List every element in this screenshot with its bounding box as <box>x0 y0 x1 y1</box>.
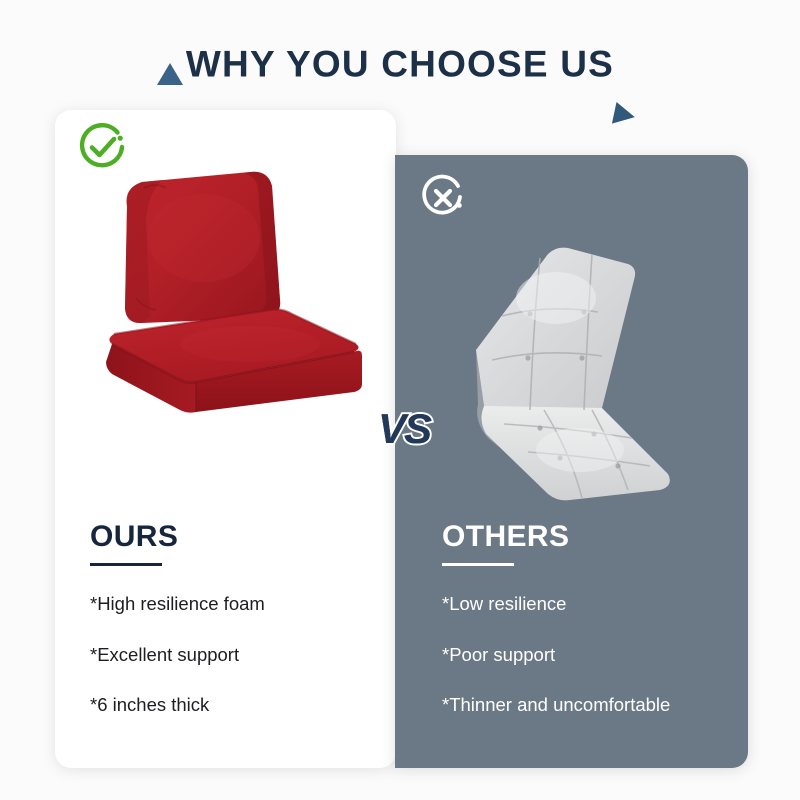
ours-bullet-2: *6 inches thick <box>90 696 209 715</box>
others-bullet-0: *Low resilience <box>442 595 566 614</box>
title-bar: WHY YOU CHOOSE US <box>0 30 800 100</box>
page-title: WHY YOU CHOOSE US <box>0 46 800 83</box>
triangle-right-icon <box>612 102 637 128</box>
ours-product-image <box>100 158 372 418</box>
ours-bullet-1: *Excellent support <box>90 646 239 665</box>
others-heading-rule <box>442 563 514 566</box>
others-heading: OTHERS <box>442 522 569 552</box>
versus-badge: VS VS <box>364 398 444 460</box>
ours-bullet-0: *High resilience foam <box>90 595 265 614</box>
cross-circle-icon <box>417 172 469 224</box>
ours-heading-rule <box>90 563 162 566</box>
others-bullet-2: *Thinner and uncomfortable <box>442 696 670 715</box>
others-bullet-1: *Poor support <box>442 646 555 665</box>
ours-heading: OURS <box>90 522 178 552</box>
check-circle-icon <box>73 118 131 176</box>
infographic-canvas: WHY YOU CHOOSE US <box>0 0 800 800</box>
others-product-image <box>452 238 704 506</box>
versus-badge-label: VS <box>364 398 444 460</box>
